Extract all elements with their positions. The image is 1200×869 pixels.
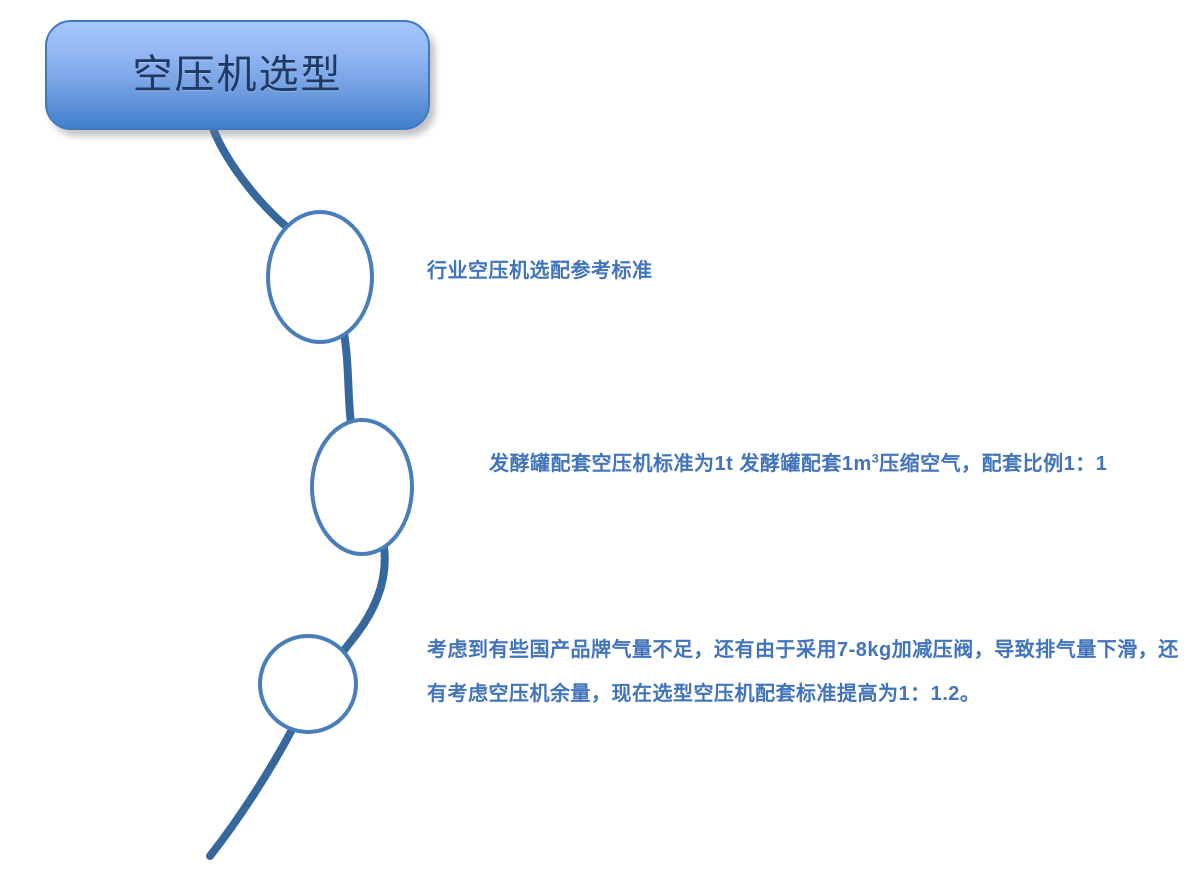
note-text-1: 行业空压机选配参考标准 — [427, 249, 1127, 293]
connector-curve — [210, 131, 385, 856]
node-circle-3[interactable] — [260, 636, 356, 732]
note-text-3: 考虑到有些国产品牌气量不足，还有由于采用7-8kg加减压阀，导致排气量下滑，还有… — [427, 628, 1192, 716]
node-circle-1[interactable] — [268, 212, 372, 342]
node-circle-2[interactable] — [312, 420, 412, 554]
title-box[interactable]: 空压机选型 — [45, 20, 430, 130]
diagram-graphics — [0, 0, 1200, 869]
note-text-2: 发酵罐配套空压机标准为1t 发酵罐配套1m3压缩空气，配套比例1：1 — [489, 442, 1179, 486]
title-label: 空压机选型 — [133, 55, 343, 95]
slide-canvas: 空压机选型 行业空压机选配参考标准 发酵罐配套空压机标准为1t 发酵罐配套1m3… — [0, 0, 1200, 869]
cubic-meter-superscript: 3 — [872, 451, 879, 465]
